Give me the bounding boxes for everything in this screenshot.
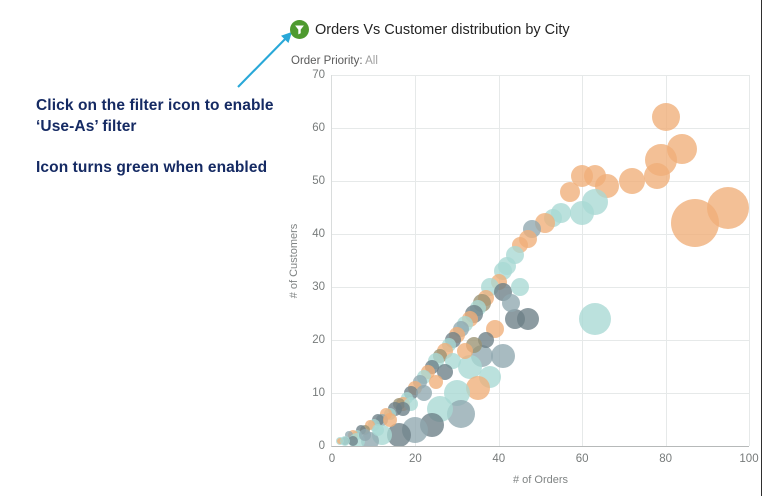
bubble-chart-card: Orders Vs Customer distribution by City … — [286, 10, 754, 486]
chart-title: Orders Vs Customer distribution by City — [315, 22, 570, 38]
x-axis-tick-label: 20 — [409, 453, 422, 465]
y-axis-tick-label: 60 — [312, 122, 325, 134]
page-right-margin — [762, 0, 778, 496]
x-axis-tick-label: 40 — [492, 453, 505, 465]
chart-subtitle-value: All — [365, 55, 378, 67]
y-axis-tick-label: 10 — [312, 387, 325, 399]
y-axis-title: # of Customers — [288, 223, 300, 298]
bubble-point[interactable] — [619, 168, 645, 194]
bubble-point[interactable] — [502, 294, 520, 312]
bubble-point[interactable] — [579, 303, 611, 335]
x-axis-tick-label: 100 — [739, 453, 758, 465]
bubble-point[interactable] — [359, 429, 371, 441]
annotation-text-block: Click on the filter icon to enable ‘Use-… — [36, 95, 286, 178]
x-axis-title: # of Orders — [513, 474, 568, 486]
y-axis-tick-label: 40 — [312, 228, 325, 240]
chart-header: Orders Vs Customer distribution by City — [290, 20, 570, 39]
bubble-point[interactable] — [517, 308, 539, 330]
x-axis-tick-label: 0 — [329, 453, 335, 465]
y-axis-tick-label: 70 — [312, 69, 325, 81]
bubble-point[interactable] — [416, 385, 432, 401]
bubble-point[interactable] — [383, 413, 397, 427]
annotation-line-1: Click on the filter icon to enable ‘Use-… — [36, 95, 286, 137]
annotation-spacer — [36, 137, 286, 157]
x-axis-tick-label: 60 — [576, 453, 589, 465]
bubble-point[interactable] — [372, 424, 384, 436]
filter-funnel-icon[interactable] — [290, 20, 309, 39]
y-axis-tick-label: 0 — [319, 440, 325, 452]
bubble-point[interactable] — [652, 103, 680, 131]
bubble-point[interactable] — [671, 199, 719, 247]
bubble-point[interactable] — [396, 402, 410, 416]
annotation-line-2: Icon turns green when enabled — [36, 157, 286, 178]
bubble-point[interactable] — [491, 344, 515, 368]
plot-area: # of Customers # of Orders 0102030405060… — [331, 75, 749, 447]
bubble-point[interactable] — [429, 375, 443, 389]
bubble-series — [332, 75, 749, 446]
y-axis-tick-label: 50 — [312, 175, 325, 187]
bubble-point[interactable] — [340, 436, 350, 446]
chart-subtitle: Order Priority: All — [291, 55, 378, 67]
bubble-point[interactable] — [644, 163, 670, 189]
gridline-vertical — [749, 75, 750, 446]
x-axis-tick-label: 80 — [659, 453, 672, 465]
bubble-point[interactable] — [570, 201, 594, 225]
y-axis-tick-label: 30 — [312, 281, 325, 293]
bubble-point[interactable] — [560, 182, 580, 202]
chart-subtitle-label: Order Priority: — [291, 55, 363, 67]
y-axis-tick-label: 20 — [312, 334, 325, 346]
